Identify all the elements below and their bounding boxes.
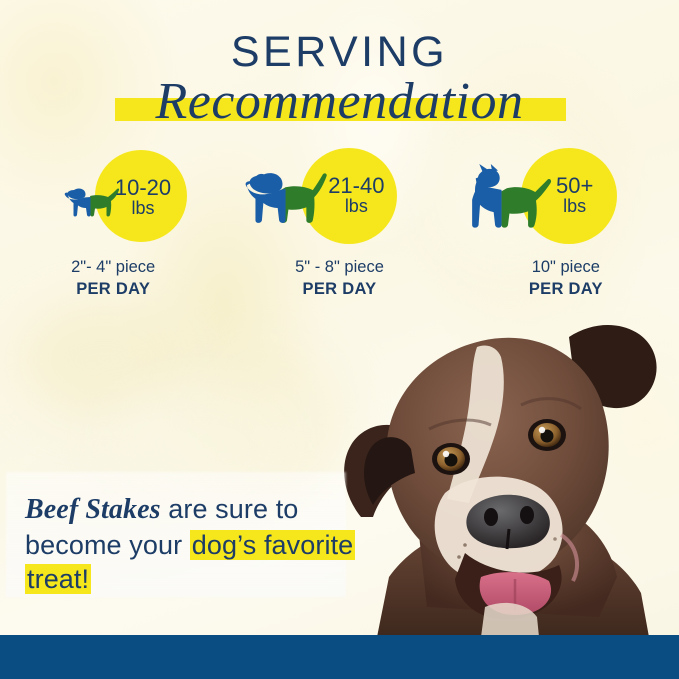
serving-caption: 2"- 4" piece PER DAY xyxy=(0,257,226,301)
tagline: Beef Stakes are sure to become your dog’… xyxy=(25,492,385,597)
piece-size-text: 5" - 8" piece xyxy=(226,257,452,279)
tagline-highlight-1: dog’s favorite xyxy=(190,530,356,560)
piece-size-text: 10" piece xyxy=(453,257,679,279)
weight-label: 10-20 lbs xyxy=(104,176,182,218)
piece-size-text: 2"- 4" piece xyxy=(0,257,226,279)
weight-unit: lbs xyxy=(533,197,617,216)
banner-canvas: SERVING Recommendation 10-20 lbs xyxy=(0,0,679,679)
serving-caption: 10" piece PER DAY xyxy=(453,257,679,301)
frequency-text: PER DAY xyxy=(453,279,679,301)
weight-number: 50+ xyxy=(533,174,617,197)
frequency-text: PER DAY xyxy=(226,279,452,301)
page-title-recommendation-wrap: Recommendation xyxy=(0,76,679,128)
serving-group-small: 10-20 lbs 2"- 4" piece PER DAY xyxy=(0,144,226,294)
serving-group-medium: 21-40 lbs 5" - 8" piece PER DAY xyxy=(226,144,452,294)
page-title-recommendation: Recommendation xyxy=(155,76,523,128)
page-title-serving: SERVING xyxy=(0,28,679,77)
background-texture-blotch xyxy=(20,300,190,420)
frequency-text: PER DAY xyxy=(0,279,226,301)
serving-caption: 5" - 8" piece PER DAY xyxy=(226,257,452,301)
tagline-highlight-2: treat! xyxy=(25,564,91,594)
brand-name: Beef Stakes xyxy=(25,494,161,525)
serving-group-large: 50+ lbs 10" piece PER DAY xyxy=(453,144,679,294)
weight-number: 10-20 xyxy=(104,176,182,199)
serving-groups: 10-20 lbs 2"- 4" piece PER DAY xyxy=(0,144,679,294)
weight-label: 50+ lbs xyxy=(533,174,617,216)
weight-number: 21-40 xyxy=(314,174,398,197)
weight-label: 21-40 lbs xyxy=(314,174,398,216)
weight-unit: lbs xyxy=(314,197,398,216)
bottom-brand-bar xyxy=(0,635,679,679)
weight-unit: lbs xyxy=(104,199,182,218)
